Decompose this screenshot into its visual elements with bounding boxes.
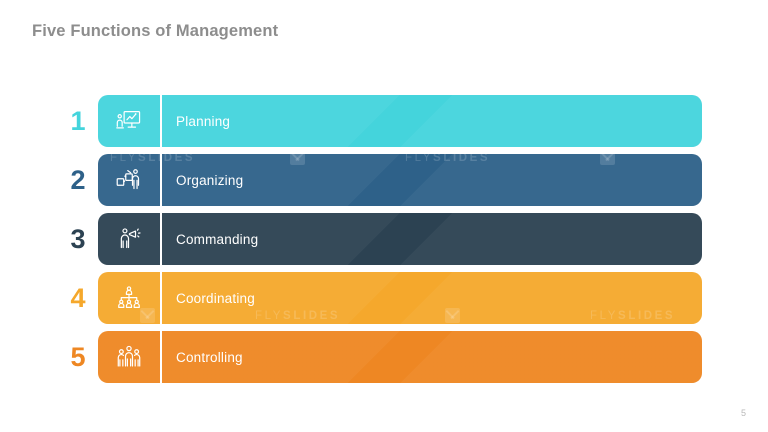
page-title: Five Functions of Management bbox=[32, 22, 278, 41]
function-row[interactable]: 2 Organizing bbox=[0, 154, 768, 206]
function-row[interactable]: 5 Controlling bbox=[0, 331, 768, 383]
org-hierarchy-icon bbox=[98, 272, 160, 324]
function-bar[interactable]: Commanding bbox=[98, 213, 702, 265]
function-row[interactable]: 3 Commanding bbox=[0, 213, 768, 265]
function-label: Controlling bbox=[162, 350, 702, 365]
function-bar[interactable]: Planning bbox=[98, 95, 702, 147]
person-megaphone-icon bbox=[98, 213, 160, 265]
row-number: 2 bbox=[58, 167, 98, 194]
person-puzzle-icon bbox=[98, 154, 160, 206]
presentation-chart-icon bbox=[98, 95, 160, 147]
functions-list: 1 Planning2 Organizing3 Commandin bbox=[0, 95, 768, 390]
function-label: Commanding bbox=[162, 232, 702, 247]
function-label: Coordinating bbox=[162, 291, 702, 306]
people-group-icon bbox=[98, 331, 160, 383]
function-bar[interactable]: Coordinating bbox=[98, 272, 702, 324]
page-number: 5 bbox=[741, 408, 746, 418]
row-number: 5 bbox=[58, 344, 98, 371]
row-number: 4 bbox=[58, 285, 98, 312]
row-number: 3 bbox=[58, 226, 98, 253]
function-bar[interactable]: Controlling bbox=[98, 331, 702, 383]
function-bar[interactable]: Organizing bbox=[98, 154, 702, 206]
slide-canvas: Five Functions of Management 1 Planning2… bbox=[0, 0, 768, 432]
function-label: Organizing bbox=[162, 173, 702, 188]
function-row[interactable]: 4 Coordinating bbox=[0, 272, 768, 324]
function-row[interactable]: 1 Planning bbox=[0, 95, 768, 147]
function-label: Planning bbox=[162, 114, 702, 129]
row-number: 1 bbox=[58, 108, 98, 135]
